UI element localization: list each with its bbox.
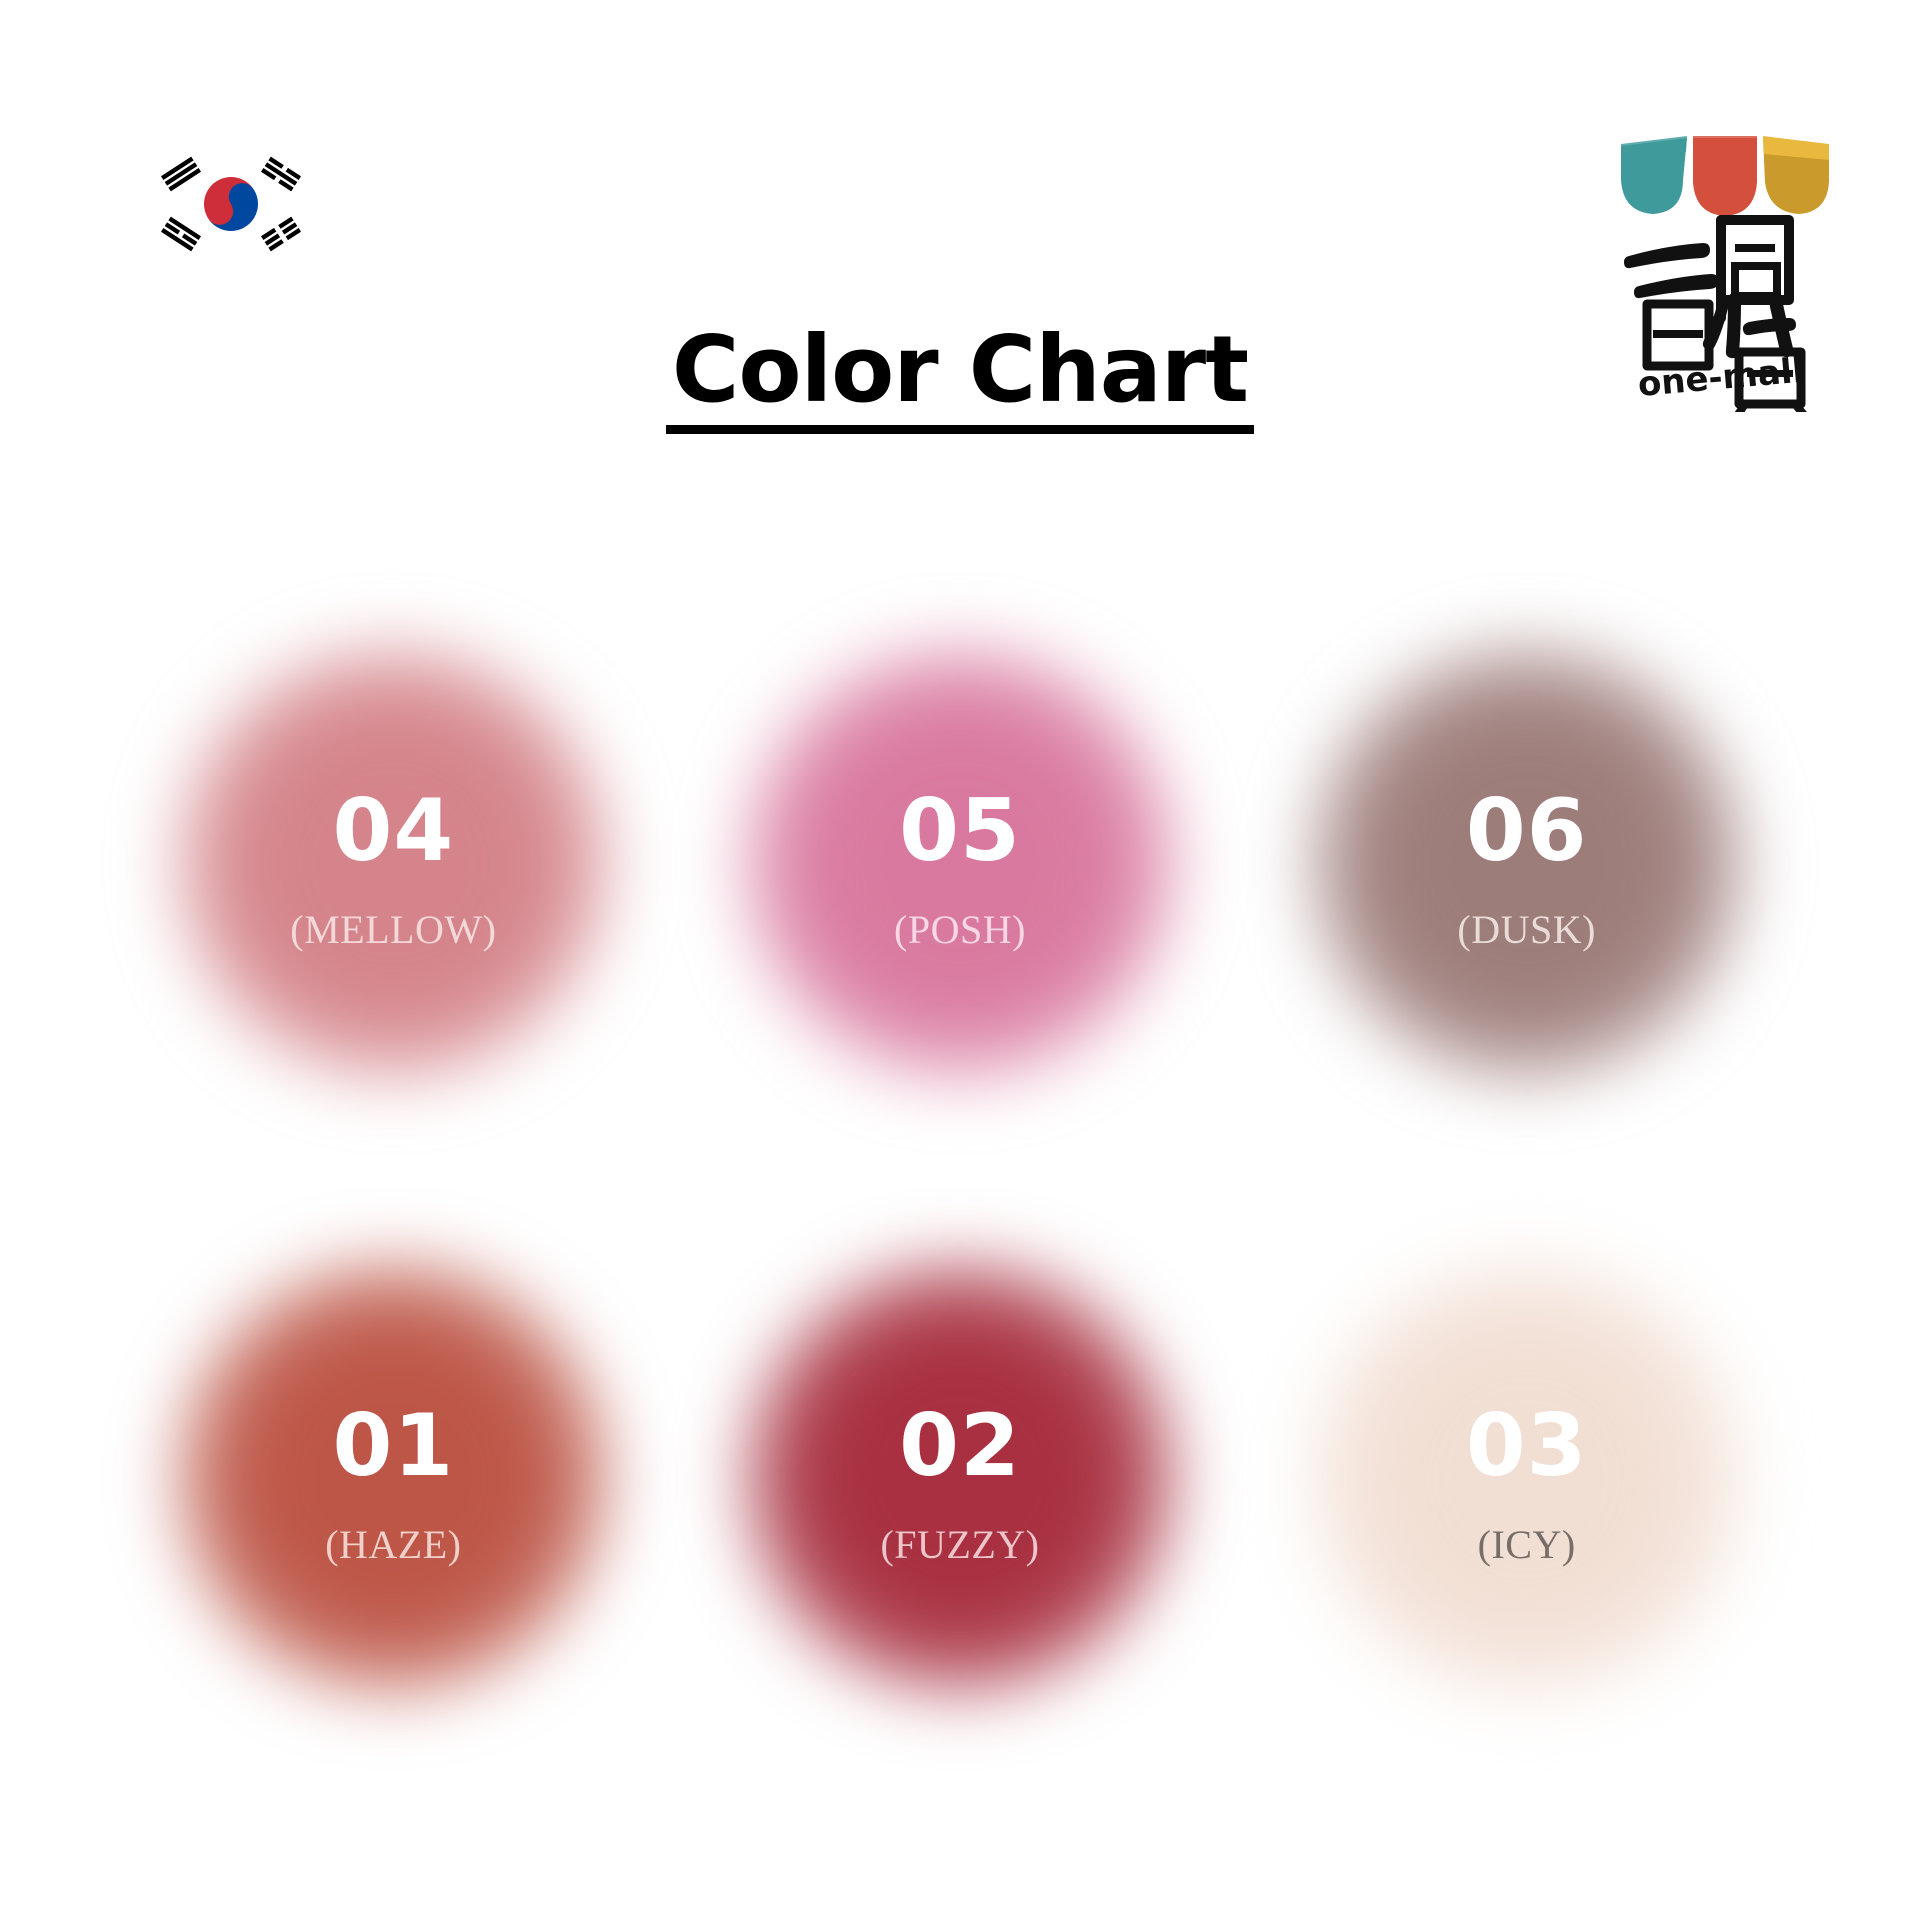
color-swatch-03[interactable]: 03 (ICY) [1243, 1170, 1810, 1785]
swatch-number-05: 05 [894, 788, 1026, 874]
swatch-number-01: 01 [325, 1403, 461, 1489]
swatch-label-03: (ICY) [1466, 1525, 1588, 1565]
swatch-label-02: (FUZZY) [880, 1525, 1039, 1565]
swatch-text-02: 02 (FUZZY) [880, 1403, 1039, 1565]
awning-icon [1621, 136, 1829, 216]
color-swatch-grid: 04 (MELLOW) 05 (POSH) 06 (DUSK) 01 (HAZE… [110, 555, 1810, 1785]
south-korea-flag-icon [150, 148, 312, 260]
swatch-text-06: 06 (DUSK) [1457, 788, 1596, 950]
swatch-number-02: 02 [880, 1403, 1039, 1489]
swatch-label-05: (POSH) [894, 910, 1026, 950]
swatch-text-01: 01 (HAZE) [325, 1403, 461, 1565]
color-swatch-02[interactable]: 02 (FUZZY) [677, 1170, 1244, 1785]
color-swatch-06[interactable]: 06 (DUSK) [1243, 555, 1810, 1170]
swatch-text-05: 05 (POSH) [894, 788, 1026, 950]
swatch-text-03: 03 (ICY) [1466, 1403, 1588, 1565]
swatch-number-03: 03 [1466, 1403, 1588, 1489]
swatch-label-04: (MELLOW) [290, 910, 496, 950]
color-swatch-01[interactable]: 01 (HAZE) [110, 1170, 677, 1785]
swatch-label-06: (DUSK) [1457, 910, 1596, 950]
color-swatch-05[interactable]: 05 (POSH) [677, 555, 1244, 1170]
page-title-container: Color Chart [0, 322, 1920, 434]
color-swatch-04[interactable]: 04 (MELLOW) [110, 555, 677, 1170]
swatch-number-04: 04 [290, 788, 496, 874]
swatch-text-04: 04 (MELLOW) [290, 788, 496, 950]
swatch-label-01: (HAZE) [325, 1525, 461, 1565]
swatch-number-06: 06 [1457, 788, 1596, 874]
page-title: Color Chart [666, 322, 1254, 434]
